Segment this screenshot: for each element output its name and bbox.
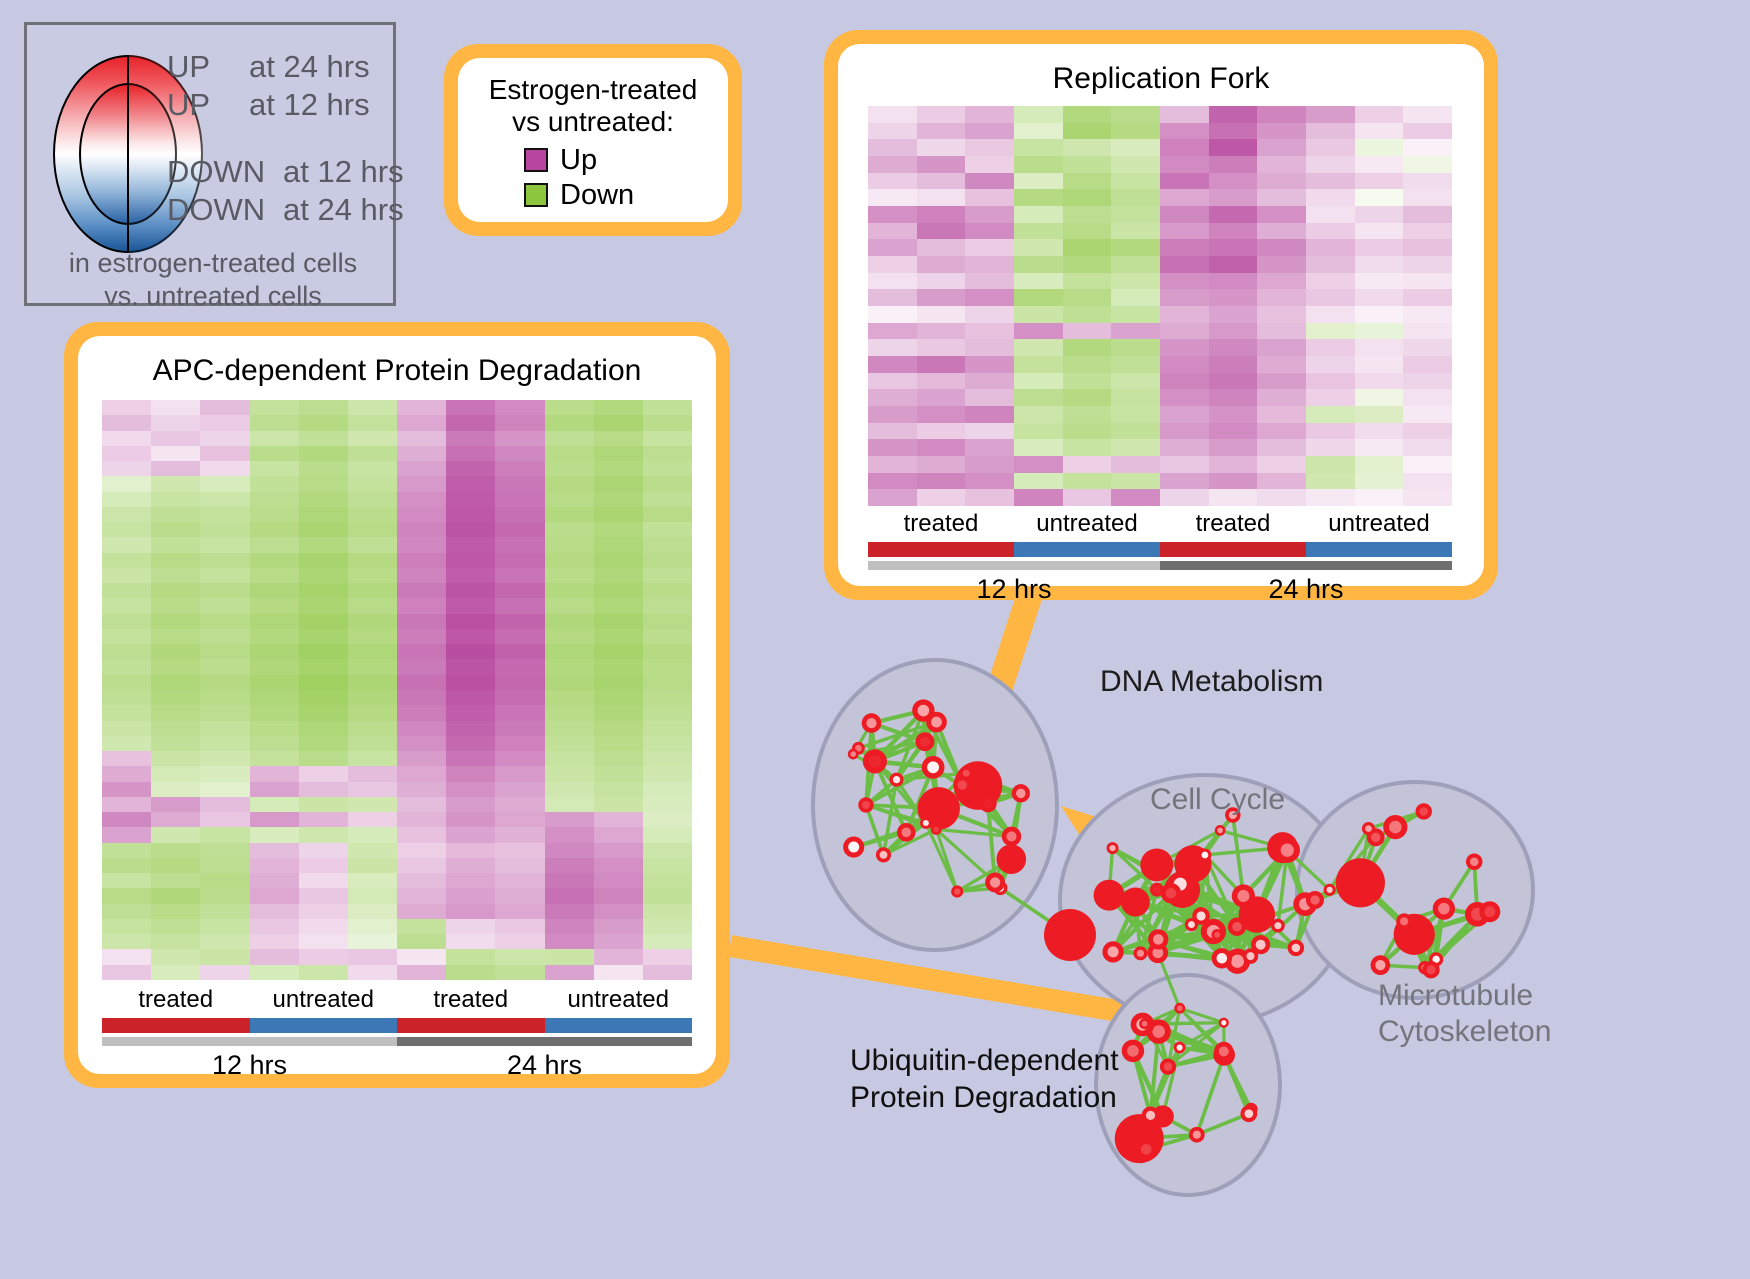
- heatmap-cell: [299, 965, 348, 980]
- colorkey-legend-box: UP at 24 hrs UP at 12 hrs DOWN at 12 hrs…: [24, 22, 396, 306]
- heatmap-cell: [965, 256, 1014, 273]
- heatmap-cell: [200, 568, 249, 583]
- heatmap-cell: [495, 598, 544, 613]
- group-label: untreated: [1014, 510, 1160, 538]
- replication-fork-group-labels: treateduntreatedtreateduntreated: [868, 510, 1452, 538]
- heatmap-cell: [545, 919, 594, 934]
- heatmap-cell: [250, 736, 299, 751]
- heatmap-cell: [200, 797, 249, 812]
- heatmap-cell: [102, 782, 151, 797]
- heatmap-cell: [348, 583, 397, 598]
- heatmap-cell: [1355, 373, 1404, 390]
- heatmap-cell: [250, 766, 299, 781]
- heatmap-cell: [299, 598, 348, 613]
- network-node-core: [1196, 911, 1205, 920]
- heatmap-cell: [102, 461, 151, 476]
- heatmap-cell: [1257, 323, 1306, 340]
- heatmap-cell: [1063, 289, 1112, 306]
- heatmap-cell: [545, 812, 594, 827]
- heatmap-cell: [1257, 306, 1306, 323]
- cluster-label-ubiquitin-line1: Ubiquitin-dependent: [850, 1043, 1119, 1080]
- heatmap-cell: [200, 537, 249, 552]
- network-node-core: [1389, 821, 1402, 834]
- heatmap-cell: [102, 507, 151, 522]
- heatmap-cell: [102, 492, 151, 507]
- network-node-core: [1427, 965, 1436, 974]
- heatmap-cell: [151, 476, 200, 491]
- heatmap-cell: [1014, 423, 1063, 440]
- heatmap-cell: [151, 721, 200, 736]
- heatmap-cell: [495, 751, 544, 766]
- heatmap-cell: [1111, 256, 1160, 273]
- network-node-core: [1141, 1144, 1152, 1155]
- heatmap-cell: [348, 797, 397, 812]
- network-node-core: [920, 737, 930, 747]
- heatmap-cell: [594, 629, 643, 644]
- colorkey-time-down-12: at 12 hrs: [283, 154, 404, 190]
- heatmap-cell: [250, 949, 299, 964]
- heatmap-cell: [446, 568, 495, 583]
- heatmap-cell: [250, 446, 299, 461]
- network-node: [1094, 880, 1125, 911]
- heatmap-cell: [965, 489, 1014, 506]
- heatmap-cell: [348, 537, 397, 552]
- heatmap-cell: [1403, 206, 1452, 223]
- heatmap-cell: [1063, 339, 1112, 356]
- heatmap-cell: [1257, 356, 1306, 373]
- network-node: [1336, 858, 1385, 907]
- heatmap-cell: [250, 934, 299, 949]
- heatmap-cell: [250, 644, 299, 659]
- heatmap-cell: [1355, 256, 1404, 273]
- heatmap-cell: [1063, 439, 1112, 456]
- heatmap-cell: [446, 690, 495, 705]
- heatmap-cell: [868, 406, 917, 423]
- heatmap-cell: [594, 522, 643, 537]
- heatmap-cell: [1306, 206, 1355, 223]
- apc-time-bar: [102, 1037, 692, 1046]
- heatmap-cell: [868, 223, 917, 240]
- colorkey-time-up-12: at 12 hrs: [249, 87, 370, 123]
- heatmap-cell: [594, 400, 643, 415]
- heatmap-cell: [348, 843, 397, 858]
- time-bar-segment: [397, 1037, 692, 1046]
- heatmap-cell: [917, 306, 966, 323]
- heatmap-cell: [1306, 306, 1355, 323]
- heatmap-cell: [917, 389, 966, 406]
- heatmap-cell: [1257, 389, 1306, 406]
- heatmap-cell: [250, 873, 299, 888]
- heatmap-cell: [250, 614, 299, 629]
- heatmap-cell: [446, 614, 495, 629]
- heatmap-cell: [1355, 139, 1404, 156]
- heatmap-cell: [446, 400, 495, 415]
- heatmap-cell: [1209, 306, 1258, 323]
- heatmap-cell: [1306, 173, 1355, 190]
- heatmap-cell: [1111, 306, 1160, 323]
- heatmap-cell: [965, 373, 1014, 390]
- heatmap-cell: [151, 873, 200, 888]
- group-label: untreated: [545, 986, 693, 1014]
- heatmap-cell: [495, 629, 544, 644]
- heatmap-cell: [1306, 489, 1355, 506]
- heatmap-cell: [397, 568, 446, 583]
- heatmap-cell: [643, 583, 692, 598]
- heatmap-cell: [250, 965, 299, 980]
- heatmap-cell: [1160, 306, 1209, 323]
- heatmap-cell: [200, 492, 249, 507]
- heatmap-cell: [200, 446, 249, 461]
- heatmap-cell: [1257, 206, 1306, 223]
- heatmap-cell: [299, 858, 348, 873]
- heatmap-cell: [1014, 173, 1063, 190]
- heatmap-cell: [545, 858, 594, 873]
- heatmap-cell: [1403, 306, 1452, 323]
- heatmap-cell: [1209, 456, 1258, 473]
- heatmap-cell: [965, 456, 1014, 473]
- heatmap-cell: [1306, 339, 1355, 356]
- heatmap-cell: [1209, 123, 1258, 140]
- heatmap-cell: [1063, 239, 1112, 256]
- heatmap-cell: [1111, 123, 1160, 140]
- network-node-core: [1109, 845, 1115, 851]
- heatmap-cell: [348, 721, 397, 736]
- heatmap-cell: [397, 934, 446, 949]
- heatmap-cell: [643, 476, 692, 491]
- network-node: [1140, 848, 1173, 881]
- heatmap-cell: [250, 568, 299, 583]
- network-node-core: [1327, 887, 1333, 893]
- heatmap-cell: [102, 888, 151, 903]
- heatmap-cell: [250, 858, 299, 873]
- heatmap-cell: [868, 373, 917, 390]
- heatmap-cell: [1014, 406, 1063, 423]
- heatmap-cell: [495, 614, 544, 629]
- network-node-core: [1237, 890, 1249, 902]
- network-node-core: [918, 705, 930, 717]
- heatmap-cell: [348, 415, 397, 430]
- heatmap-cell: [1063, 406, 1112, 423]
- heatmap-cell: [1306, 256, 1355, 273]
- heatmap-cell: [868, 273, 917, 290]
- heatmap-cell: [495, 919, 544, 934]
- heatmap-cell: [446, 934, 495, 949]
- colorkey-time-down-24: at 24 hrs: [283, 192, 404, 228]
- network-node-core: [1006, 831, 1016, 841]
- heatmap-cell: [917, 373, 966, 390]
- heatmap-cell: [200, 873, 249, 888]
- heatmap-cell: [1014, 356, 1063, 373]
- heatmap-cell: [1209, 473, 1258, 490]
- heatmap-cell: [299, 705, 348, 720]
- colorkey-footer-line1: in estrogen-treated cells: [27, 247, 399, 280]
- legend-title-line1: Estrogen-treated: [468, 74, 718, 106]
- colorkey-label-up-24: UP: [167, 49, 210, 85]
- heatmap-cell: [545, 507, 594, 522]
- heatmap-cell: [643, 705, 692, 720]
- heatmap-cell: [250, 888, 299, 903]
- network-node-core: [1127, 1045, 1139, 1057]
- network-node-core: [1310, 895, 1319, 904]
- heatmap-cell: [397, 858, 446, 873]
- heatmap-cell: [102, 476, 151, 491]
- network-node: [996, 844, 1026, 874]
- heatmap-cell: [917, 473, 966, 490]
- heatmap-cell: [495, 461, 544, 476]
- heatmap-cell: [545, 522, 594, 537]
- heatmap-cell: [1014, 106, 1063, 123]
- heatmap-cell: [397, 873, 446, 888]
- network-node-core: [1484, 906, 1495, 917]
- heatmap-cell: [495, 965, 544, 980]
- heatmap-cell: [102, 827, 151, 842]
- heatmap-cell: [495, 690, 544, 705]
- apc-time-labels: 12 hrs24 hrs: [102, 1050, 692, 1081]
- heatmap-cell: [200, 644, 249, 659]
- heatmap-cell: [1403, 439, 1452, 456]
- heatmap-cell: [299, 675, 348, 690]
- heatmap-cell: [965, 106, 1014, 123]
- heatmap-cell: [102, 522, 151, 537]
- heatmap-cell: [200, 721, 249, 736]
- heatmap-cell: [1209, 223, 1258, 240]
- heatmap-cell: [545, 644, 594, 659]
- heatmap-cell: [348, 400, 397, 415]
- heatmap-cell: [250, 598, 299, 613]
- heatmap-cell: [545, 934, 594, 949]
- heatmap-cell: [545, 400, 594, 415]
- heatmap-cell: [397, 721, 446, 736]
- heatmap-cell: [545, 949, 594, 964]
- heatmap-cell: [594, 934, 643, 949]
- heatmap-cell: [200, 751, 249, 766]
- heatmap-cell: [495, 659, 544, 674]
- heatmap-cell: [348, 446, 397, 461]
- heatmap-cell: [1403, 239, 1452, 256]
- heatmap-cell: [1111, 439, 1160, 456]
- heatmap-cell: [151, 919, 200, 934]
- heatmap-cell: [643, 904, 692, 919]
- heatmap-cell: [1306, 456, 1355, 473]
- heatmap-cell: [594, 736, 643, 751]
- heatmap-cell: [102, 949, 151, 964]
- heatmap-cell: [397, 583, 446, 598]
- heatmap-cell: [917, 323, 966, 340]
- heatmap-cell: [1306, 239, 1355, 256]
- heatmap-cell: [545, 904, 594, 919]
- heatmap-cell: [643, 843, 692, 858]
- heatmap-cell: [643, 553, 692, 568]
- time-bar-segment: [102, 1037, 397, 1046]
- heatmap-cell: [643, 873, 692, 888]
- heatmap-cell: [200, 934, 249, 949]
- heatmap-cell: [348, 553, 397, 568]
- heatmap-cell: [545, 965, 594, 980]
- pathway-network-graph: [770, 600, 1570, 1279]
- heatmap-cell: [965, 473, 1014, 490]
- network-node-core: [1217, 828, 1223, 834]
- heatmap-cell: [868, 239, 917, 256]
- heatmap-cell: [1063, 356, 1112, 373]
- heatmap-cell: [1355, 223, 1404, 240]
- heatmap-cell: [1111, 156, 1160, 173]
- up-swatch-icon: [524, 148, 548, 172]
- colorkey-footer: in estrogen-treated cells vs. untreated …: [27, 247, 399, 313]
- heatmap-cell: [643, 919, 692, 934]
- heatmap-cell: [545, 568, 594, 583]
- heatmap-cell: [1111, 206, 1160, 223]
- heatmap-cell: [965, 206, 1014, 223]
- heatmap-cell: [397, 751, 446, 766]
- heatmap-cell: [200, 736, 249, 751]
- heatmap-cell: [348, 476, 397, 491]
- heatmap-cell: [1355, 189, 1404, 206]
- heatmap-cell: [1209, 323, 1258, 340]
- heatmap-cell: [250, 782, 299, 797]
- heatmap-cell: [151, 415, 200, 430]
- heatmap-cell: [1306, 273, 1355, 290]
- apc-group-labels: treateduntreatedtreateduntreated: [102, 986, 692, 1014]
- heatmap-cell: [1257, 239, 1306, 256]
- heatmap-cell: [102, 568, 151, 583]
- heatmap-cell: [643, 522, 692, 537]
- updown-legend-inner: Estrogen-treated vs untreated: Up Down: [458, 58, 728, 222]
- heatmap-cell: [1355, 106, 1404, 123]
- heatmap-cell: [1306, 123, 1355, 140]
- heatmap-cell: [594, 644, 643, 659]
- heatmap-cell: [446, 522, 495, 537]
- heatmap-cell: [1209, 389, 1258, 406]
- heatmap-cell: [495, 522, 544, 537]
- heatmap-cell: [1306, 139, 1355, 156]
- heatmap-cell: [102, 736, 151, 751]
- heatmap-cell: [643, 888, 692, 903]
- heatmap-cell: [868, 423, 917, 440]
- heatmap-cell: [1160, 356, 1209, 373]
- heatmap-cell: [643, 598, 692, 613]
- heatmap-cell: [868, 106, 917, 123]
- heatmap-cell: [965, 423, 1014, 440]
- heatmap-cell: [1209, 173, 1258, 190]
- heatmap-cell: [1403, 489, 1452, 506]
- heatmap-cell: [299, 721, 348, 736]
- heatmap-cell: [545, 461, 594, 476]
- heatmap-cell: [151, 827, 200, 842]
- heatmap-cell: [299, 782, 348, 797]
- heatmap-cell: [250, 400, 299, 415]
- network-node-core: [1164, 1062, 1172, 1070]
- heatmap-cell: [299, 431, 348, 446]
- cluster-hull-ubiquitin: [1096, 975, 1280, 1195]
- heatmap-cell: [1306, 439, 1355, 456]
- heatmap-cell: [965, 156, 1014, 173]
- heatmap-cell: [1355, 339, 1404, 356]
- heatmap-cell: [1111, 239, 1160, 256]
- heatmap-cell: [1257, 156, 1306, 173]
- group-label: treated: [397, 986, 545, 1014]
- heatmap-cell: [643, 507, 692, 522]
- heatmap-cell: [250, 690, 299, 705]
- network-node-core: [1438, 903, 1450, 915]
- heatmap-cell: [397, 431, 446, 446]
- updown-legend-card: Estrogen-treated vs untreated: Up Down: [444, 44, 742, 236]
- treatment-bar-segment: [102, 1018, 250, 1033]
- figure-canvas: UP at 24 hrs UP at 12 hrs DOWN at 12 hrs…: [0, 0, 1750, 1279]
- heatmap-cell: [1257, 406, 1306, 423]
- group-label: untreated: [250, 986, 398, 1014]
- heatmap-cell: [1063, 256, 1112, 273]
- heatmap-cell: [1160, 189, 1209, 206]
- heatmap-cell: [1111, 289, 1160, 306]
- heatmap-cell: [299, 812, 348, 827]
- heatmap-cell: [397, 904, 446, 919]
- heatmap-cell: [1355, 173, 1404, 190]
- heatmap-cell: [495, 568, 544, 583]
- heatmap-cell: [1014, 373, 1063, 390]
- network-node-core: [1256, 940, 1266, 950]
- heatmap-cell: [299, 629, 348, 644]
- heatmap-cell: [299, 827, 348, 842]
- heatmap-cell: [1160, 139, 1209, 156]
- heatmap-cell: [102, 644, 151, 659]
- heatmap-cell: [495, 873, 544, 888]
- replication-fork-treatment-bar: [868, 542, 1452, 557]
- heatmap-cell: [1257, 273, 1306, 290]
- heatmap-cell: [200, 522, 249, 537]
- heatmap-cell: [446, 598, 495, 613]
- heatmap-cell: [1160, 123, 1209, 140]
- heatmap-cell: [1111, 373, 1160, 390]
- colorkey-label-down-12: DOWN: [167, 154, 265, 190]
- heatmap-cell: [1355, 123, 1404, 140]
- heatmap-cell: [1160, 106, 1209, 123]
- heatmap-cell: [250, 553, 299, 568]
- heatmap-cell: [151, 446, 200, 461]
- treatment-bar-segment: [250, 1018, 398, 1033]
- heatmap-cell: [545, 446, 594, 461]
- heatmap-cell: [397, 659, 446, 674]
- network-node-core: [1419, 807, 1428, 816]
- heatmap-cell: [1063, 323, 1112, 340]
- heatmap-cell: [200, 812, 249, 827]
- heatmap-cell: [200, 614, 249, 629]
- heatmap-cell: [200, 507, 249, 522]
- heatmap-cell: [200, 659, 249, 674]
- heatmap-cell: [348, 644, 397, 659]
- heatmap-cell: [151, 644, 200, 659]
- heatmap-cell: [151, 705, 200, 720]
- heatmap-cell: [1257, 289, 1306, 306]
- heatmap-cell: [594, 690, 643, 705]
- heatmap-cell: [397, 766, 446, 781]
- heatmap-cell: [643, 736, 692, 751]
- heatmap-cell: [1160, 456, 1209, 473]
- heatmap-cell: [299, 904, 348, 919]
- heatmap-cell: [1209, 439, 1258, 456]
- heatmap-cell: [397, 476, 446, 491]
- heatmap-cell: [348, 751, 397, 766]
- heatmap-cell: [446, 431, 495, 446]
- heatmap-cell: [446, 766, 495, 781]
- heatmap-cell: [446, 629, 495, 644]
- heatmap-cell: [250, 843, 299, 858]
- heatmap-cell: [545, 736, 594, 751]
- heatmap-cell: [1014, 306, 1063, 323]
- treatment-bar-segment: [545, 1018, 693, 1033]
- heatmap-cell: [397, 644, 446, 659]
- heatmap-cell: [1014, 156, 1063, 173]
- heatmap-cell: [1257, 489, 1306, 506]
